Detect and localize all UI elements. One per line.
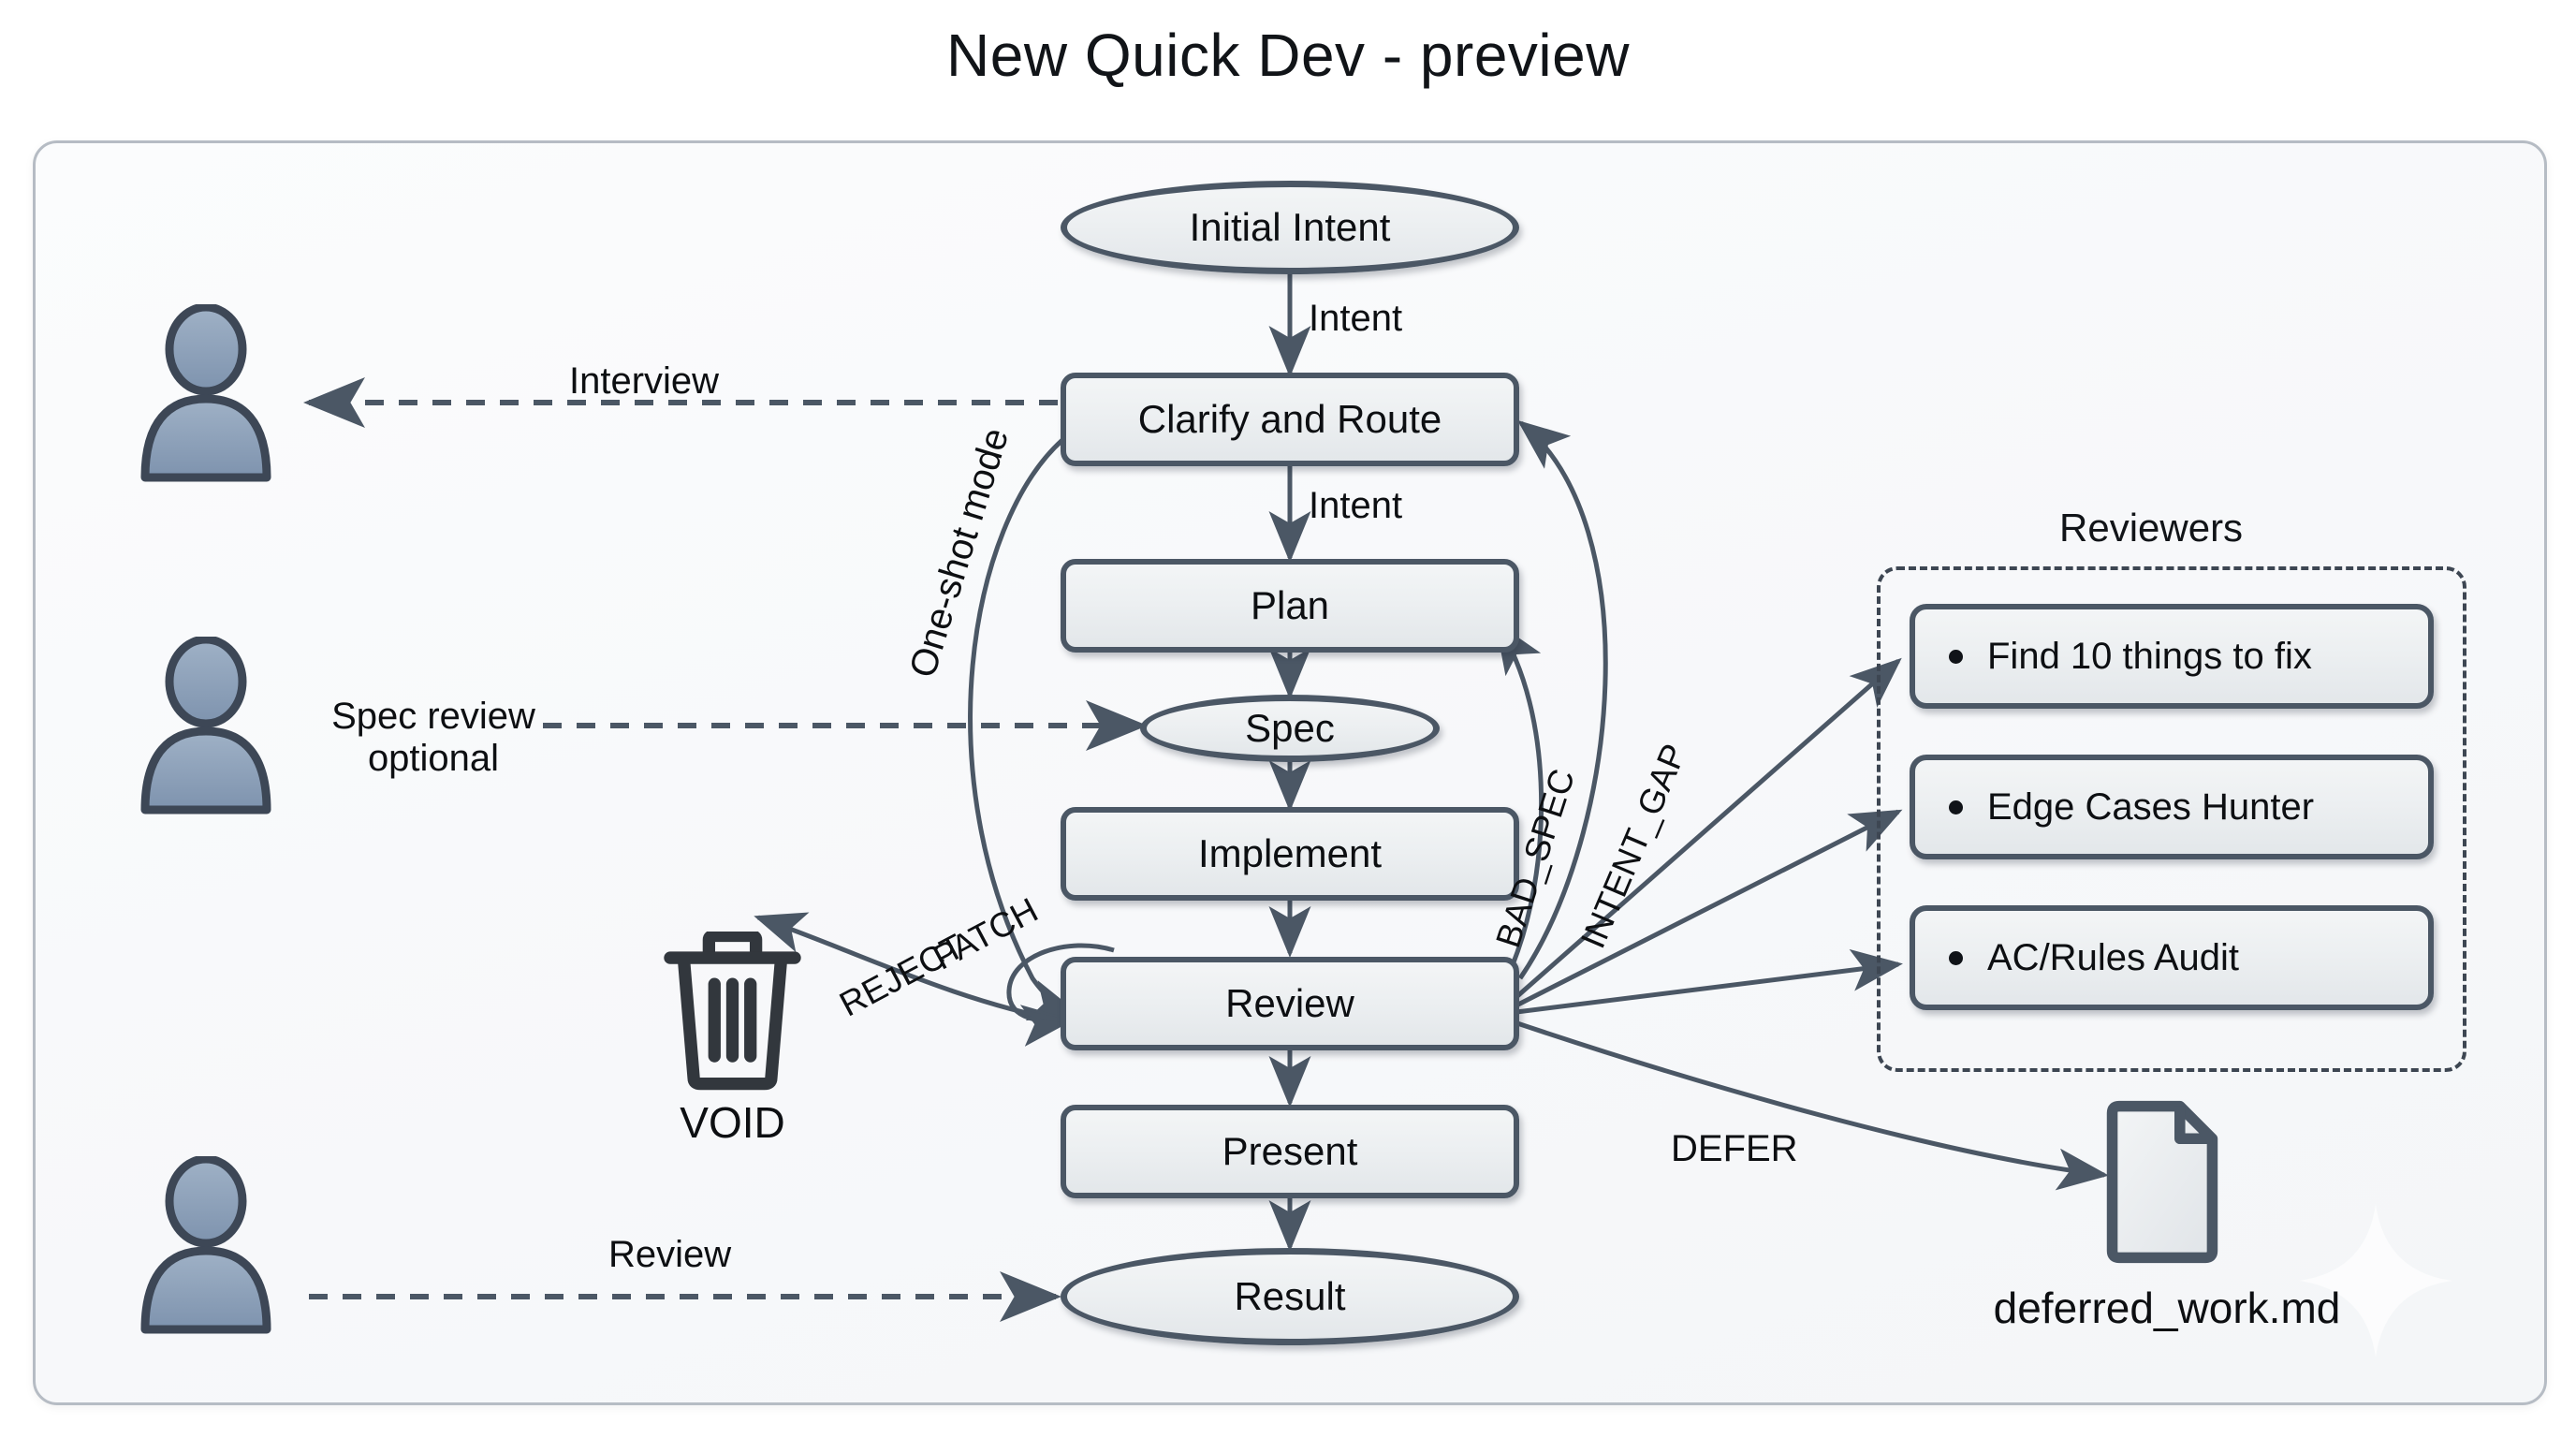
node-label: Present bbox=[1222, 1129, 1358, 1174]
node-implement[interactable]: Implement bbox=[1061, 807, 1519, 901]
spec-review-line2: optional bbox=[368, 738, 499, 779]
edge-label-spec-review-optional: Spec review optional bbox=[298, 696, 569, 780]
bullet-icon bbox=[1949, 650, 1963, 664]
node-reviewer-edge-cases-hunter[interactable]: Edge Cases Hunter bbox=[1910, 755, 2434, 859]
node-reviewer-find-10-things-to-fix[interactable]: Find 10 things to fix bbox=[1910, 604, 2434, 709]
node-label: Plan bbox=[1251, 583, 1329, 628]
void-terminal[interactable] bbox=[655, 932, 810, 1091]
actor-spec-review[interactable] bbox=[136, 637, 276, 814]
node-review[interactable]: Review bbox=[1061, 957, 1519, 1050]
cluster-title-reviewers: Reviewers bbox=[2059, 506, 2243, 550]
node-label: Spec bbox=[1245, 706, 1335, 751]
node-label: Review bbox=[1225, 981, 1354, 1026]
bullet-icon bbox=[1949, 951, 1963, 965]
actor-interview[interactable] bbox=[136, 304, 276, 482]
edge-label-review: Review bbox=[608, 1234, 731, 1276]
node-result[interactable]: Result bbox=[1061, 1248, 1519, 1345]
node-spec[interactable]: Spec bbox=[1140, 695, 1440, 762]
actor-review[interactable] bbox=[136, 1156, 276, 1334]
void-label: VOID bbox=[622, 1097, 842, 1148]
node-label: AC/Rules Audit bbox=[1987, 937, 2239, 979]
node-label: Initial Intent bbox=[1190, 205, 1391, 250]
node-label: Find 10 things to fix bbox=[1987, 636, 2312, 678]
node-present[interactable]: Present bbox=[1061, 1105, 1519, 1198]
node-clarify-and-route[interactable]: Clarify and Route bbox=[1061, 373, 1519, 466]
person-icon bbox=[136, 637, 276, 814]
spec-review-line1: Spec review bbox=[331, 696, 535, 737]
node-label: Edge Cases Hunter bbox=[1987, 786, 2314, 829]
bullet-icon bbox=[1949, 800, 1963, 814]
deferred-file-label: deferred_work.md bbox=[1938, 1283, 2396, 1333]
deferred-file-terminal[interactable] bbox=[2101, 1100, 2223, 1264]
node-label: Clarify and Route bbox=[1138, 397, 1442, 442]
node-reviewer-ac-rules-audit[interactable]: AC/Rules Audit bbox=[1910, 905, 2434, 1010]
page-title: New Quick Dev - preview bbox=[0, 21, 2576, 90]
node-label: Result bbox=[1234, 1274, 1345, 1319]
trash-icon bbox=[655, 932, 810, 1091]
document-icon bbox=[2101, 1100, 2223, 1264]
edge-label-intent-2: Intent bbox=[1309, 485, 1402, 527]
edge-label-intent-1: Intent bbox=[1309, 298, 1402, 340]
person-icon bbox=[136, 304, 276, 482]
person-icon bbox=[136, 1156, 276, 1334]
sparkle-watermark bbox=[2296, 1201, 2455, 1360]
edge-label-defer: DEFER bbox=[1671, 1128, 1798, 1170]
node-plan[interactable]: Plan bbox=[1061, 559, 1519, 653]
edge-label-interview: Interview bbox=[569, 360, 719, 403]
node-label: Implement bbox=[1198, 831, 1382, 876]
node-initial-intent[interactable]: Initial Intent bbox=[1061, 181, 1519, 274]
